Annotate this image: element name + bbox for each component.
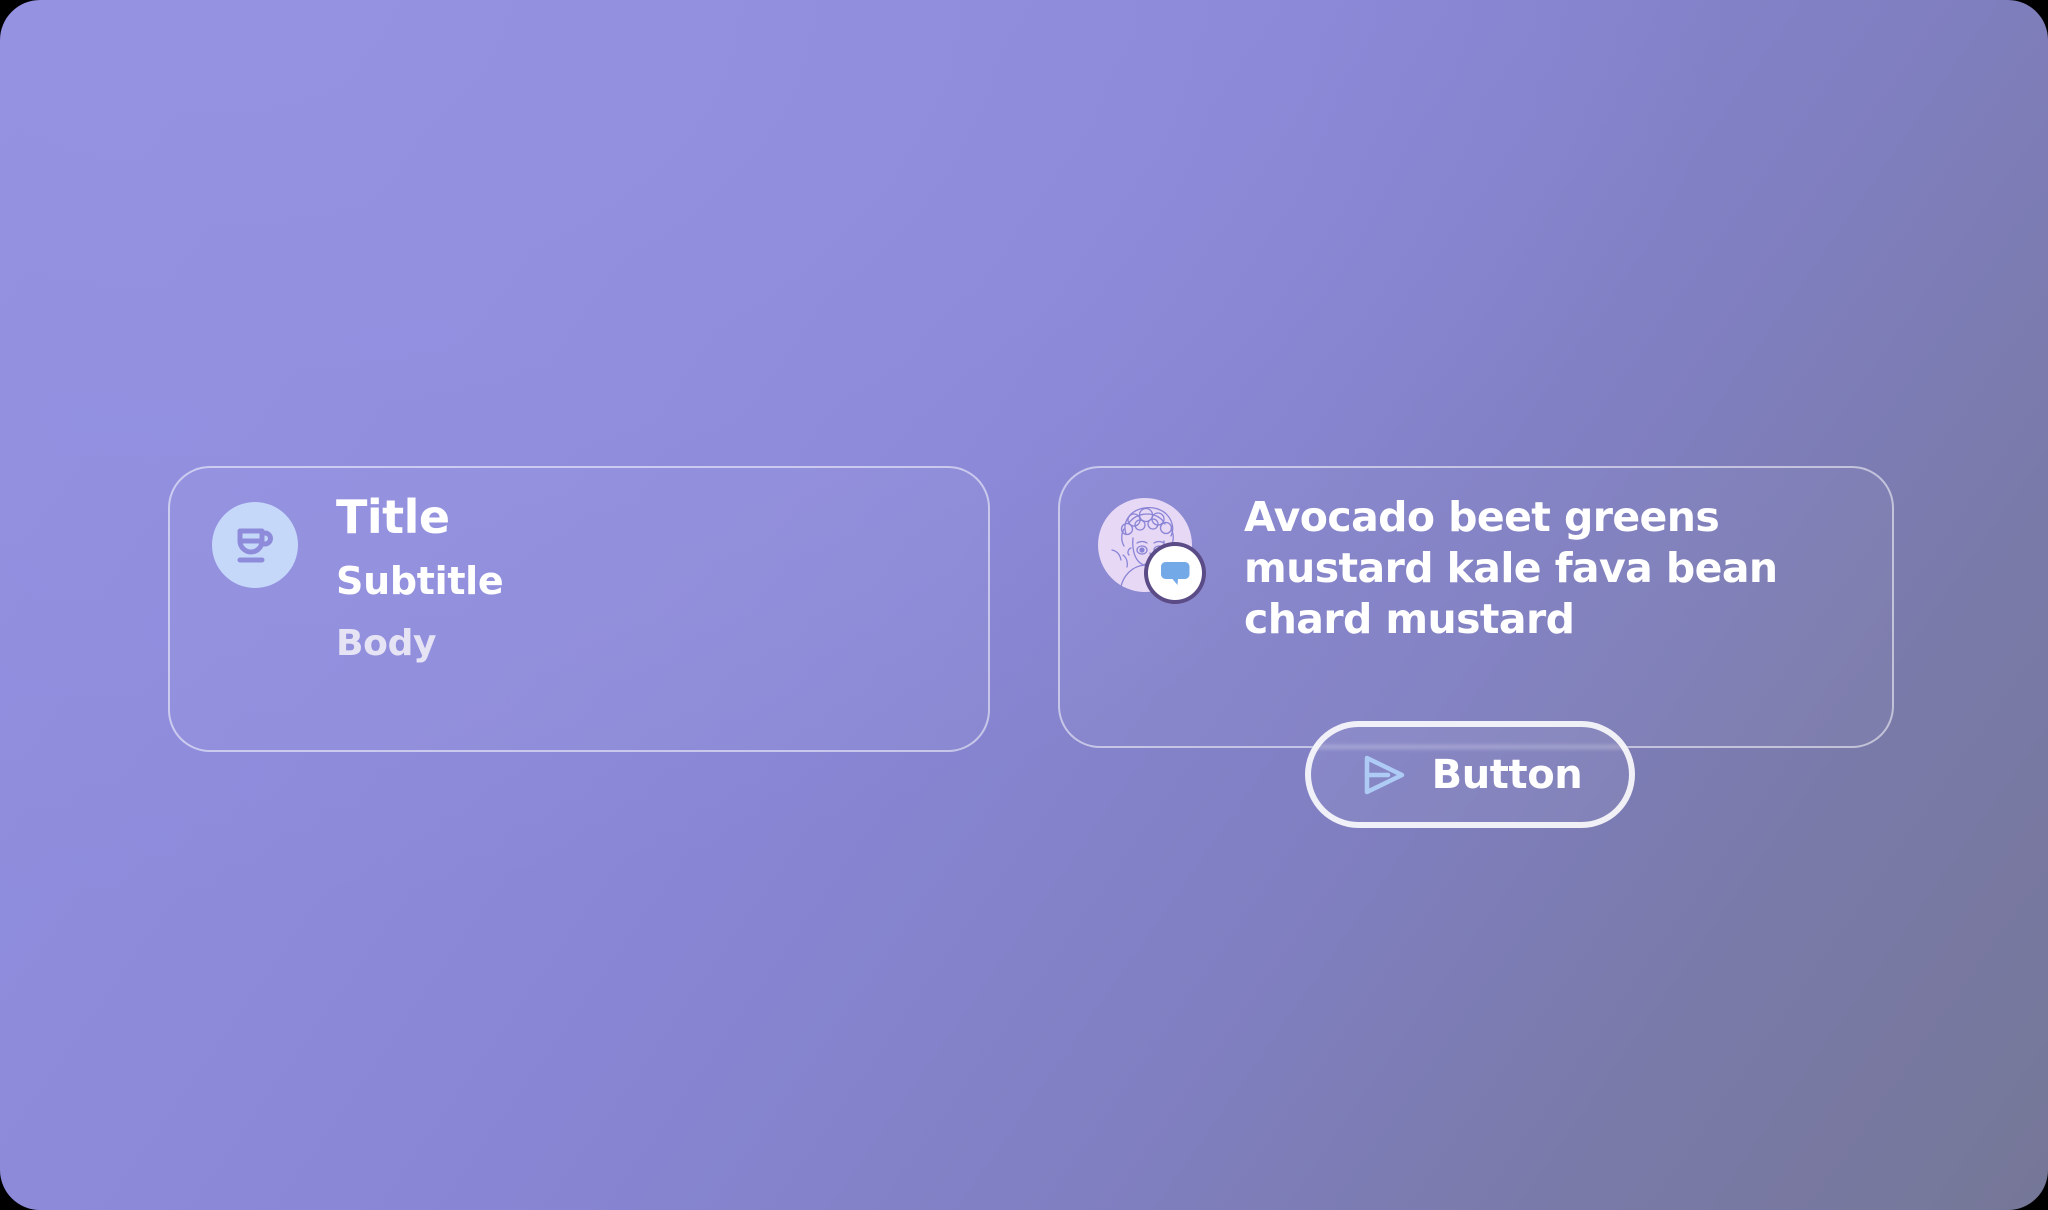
send-button-label: Button bbox=[1432, 752, 1583, 798]
info-card[interactable]: Title Subtitle Body bbox=[168, 466, 990, 752]
send-icon bbox=[1358, 750, 1408, 800]
page-title: Title bbox=[336, 492, 956, 544]
coffee-cup-icon bbox=[212, 502, 298, 588]
message-headline: Avocado beet greens mustard kale fava be… bbox=[1244, 492, 1864, 644]
body-text: Body bbox=[336, 623, 956, 664]
send-button[interactable]: Button bbox=[1305, 721, 1635, 828]
message-card[interactable]: Avocado beet greens mustard kale fava be… bbox=[1058, 466, 1894, 748]
avatar-with-badge bbox=[1098, 498, 1192, 592]
info-card-text-block: Title Subtitle Body bbox=[336, 492, 956, 664]
chat-bubble-badge bbox=[1148, 546, 1202, 600]
screenshot-stage: Title Subtitle Body bbox=[0, 0, 2048, 1210]
gradient-canvas: Title Subtitle Body bbox=[0, 0, 2048, 1210]
subtitle: Subtitle bbox=[336, 560, 956, 603]
